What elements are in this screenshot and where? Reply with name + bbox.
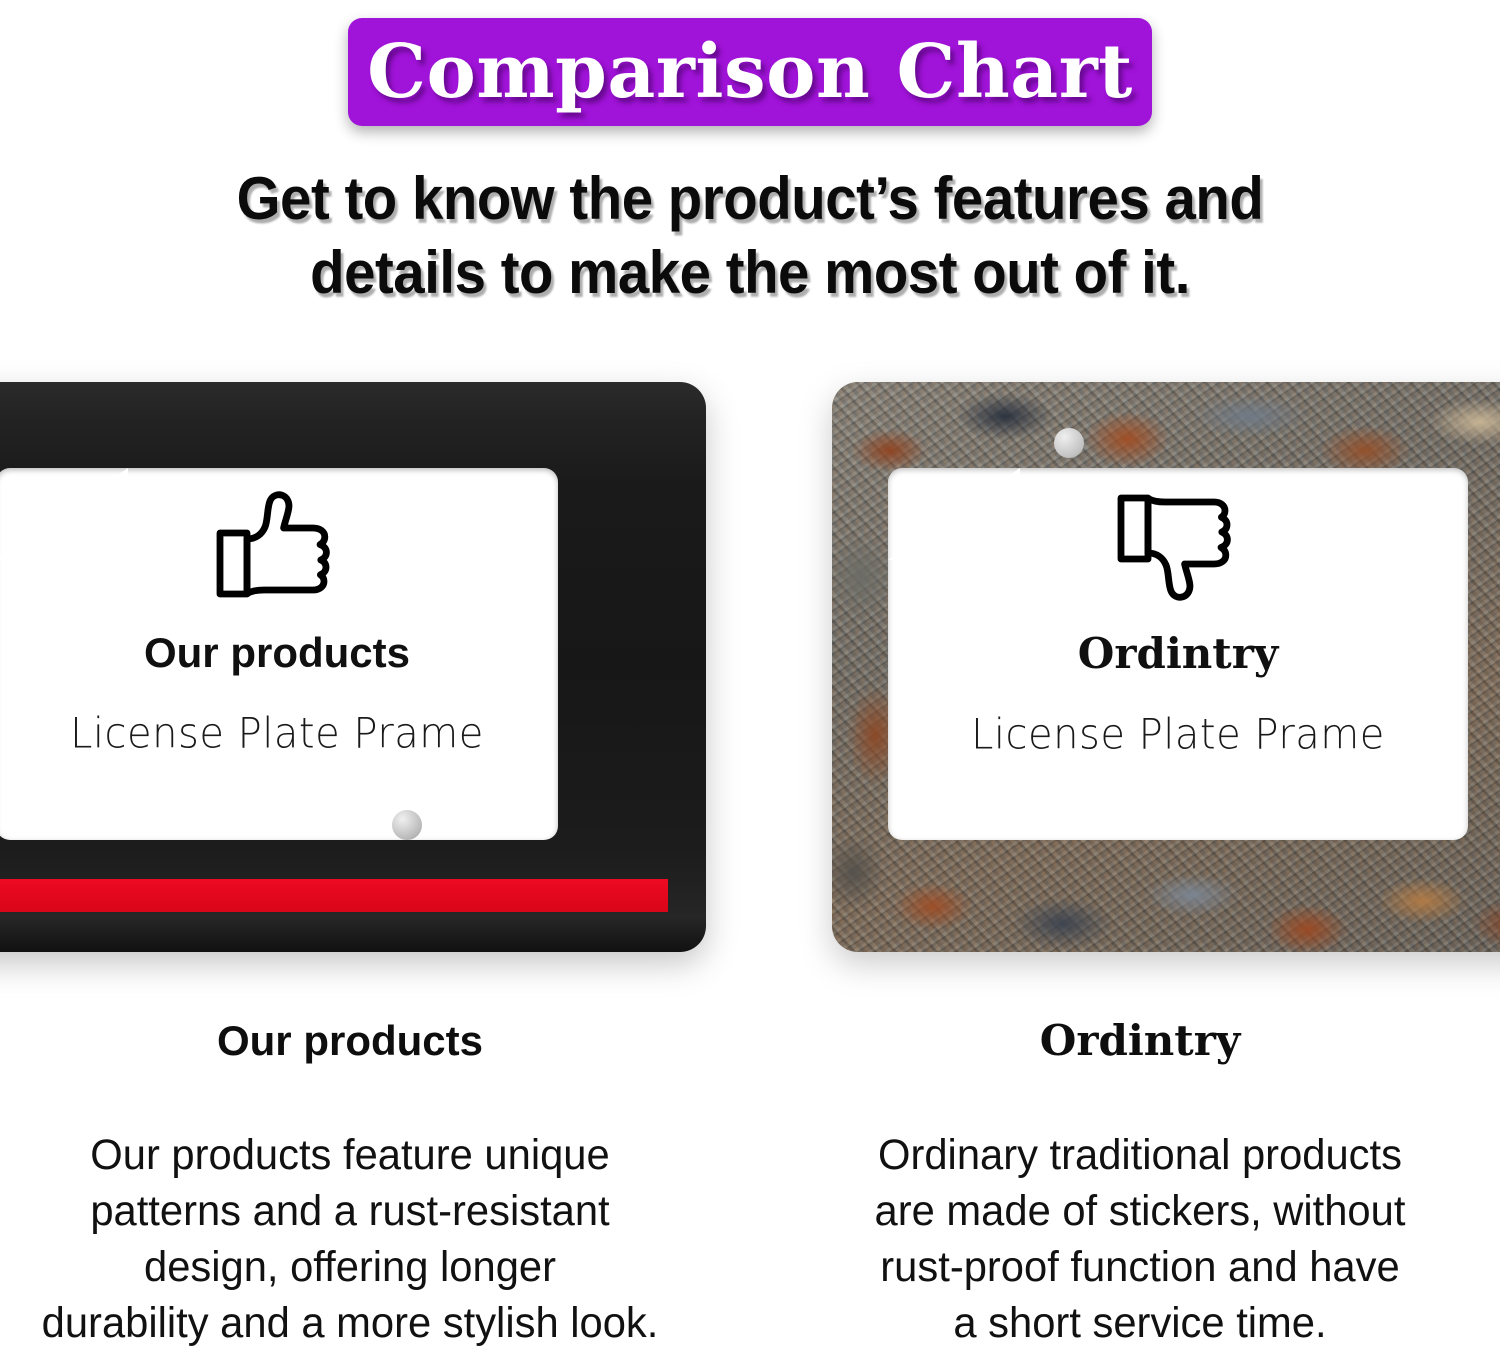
ordinary-product-description-column: Ordintry Ordinary traditional products a…: [790, 1020, 1490, 1352]
descriptions-row: Our products Our products feature unique…: [0, 1020, 1500, 1364]
product-comparison-row: Our products License Plate Prame Ordintr…: [0, 360, 1500, 960]
description-line: durability and a more stylish look.: [11, 1296, 690, 1352]
description-line: patterns and a rust-resistant: [11, 1184, 690, 1240]
ordinary-product-card-subtitle: License Plate Prame: [971, 711, 1385, 759]
our-product-description-column: Our products Our products feature unique…: [0, 1020, 700, 1352]
ordinary-product-card-content: Ordintry License Plate Prame: [888, 468, 1468, 840]
thumbs-down-icon: [1117, 490, 1239, 607]
our-product-description-body: Our products feature unique patterns and…: [11, 1128, 690, 1352]
ordinary-product-frame-card: Ordintry License Plate Prame: [832, 382, 1500, 952]
our-product-card-content: Our products License Plate Prame: [0, 468, 558, 840]
comparison-chart-banner: Comparison Chart: [348, 18, 1152, 126]
description-line: design, offering longer: [11, 1240, 690, 1296]
our-product-frame-card: Our products License Plate Prame: [0, 382, 706, 952]
ordinary-product-description-body: Ordinary traditional products are made o…: [801, 1128, 1480, 1352]
page-title: Comparison Chart: [367, 35, 1133, 109]
red-accent-stripe: [0, 879, 668, 912]
description-line: Our products feature unique: [11, 1128, 690, 1184]
subtitle-line-1: Get to know the product’s features and: [45, 162, 1455, 236]
our-product-description-heading: Our products: [0, 1020, 700, 1062]
description-line: rust-proof function and have: [801, 1240, 1480, 1296]
description-line: are made of stickers, without: [801, 1184, 1480, 1240]
description-line: a short service time.: [801, 1296, 1480, 1352]
our-product-card-title: Our products: [144, 629, 410, 677]
description-line: Ordinary traditional products: [801, 1128, 1480, 1184]
our-product-card-subtitle: License Plate Prame: [70, 710, 484, 758]
ordinary-product-description-heading: Ordintry: [790, 1020, 1490, 1062]
ordinary-product-card-title: Ordintry: [1078, 629, 1279, 678]
subtitle-line-2: details to make the most out of it.: [45, 236, 1455, 310]
thumbs-up-icon: [216, 490, 338, 607]
mounting-hole: [1054, 428, 1084, 458]
page-subtitle: Get to know the product’s features and d…: [45, 162, 1455, 311]
